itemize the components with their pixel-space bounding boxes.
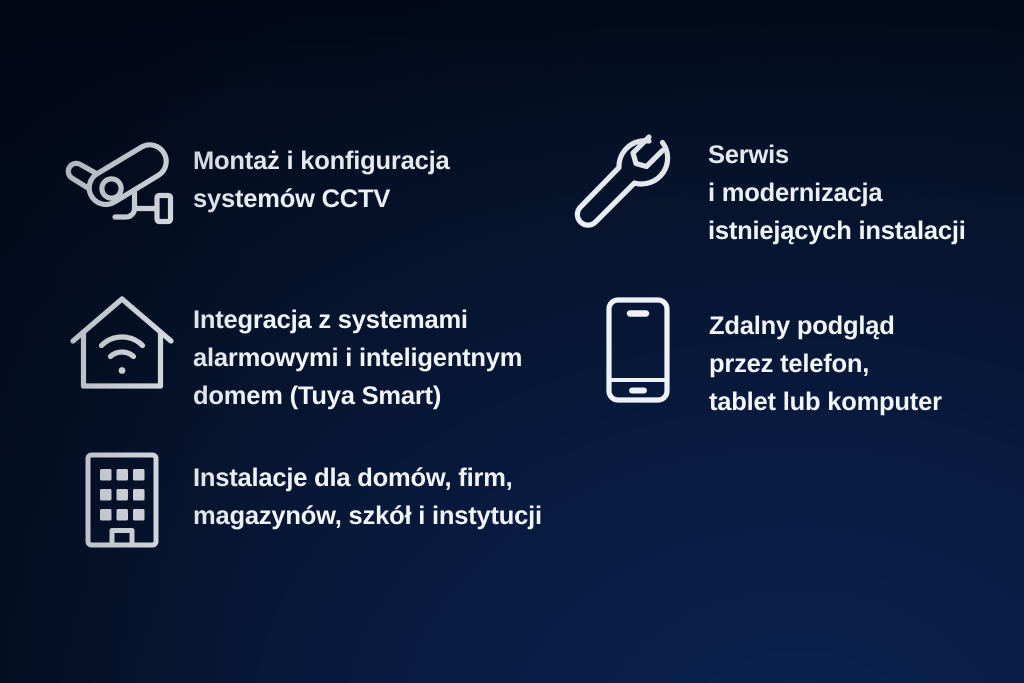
cctv-camera-icon [63, 132, 181, 228]
smart-home-wifi-icon [63, 292, 181, 396]
feature-label-integration: Integracja z systemami alarmowymi i inte… [193, 301, 522, 415]
feature-item-remote-view: Zdalny podgląd przez telefon, tablet lub… [592, 294, 942, 421]
smartphone-icon [592, 294, 684, 406]
feature-item-premises: Instalacje dla domów, firm, magazynów, s… [63, 450, 542, 550]
feature-label-cctv: Montaż i konfiguracja systemów CCTV [193, 142, 450, 218]
services-feature-slide: Montaż i konfiguracja systemów CCTV Serw… [0, 0, 1024, 683]
feature-item-cctv: Montaż i konfiguracja systemów CCTV [63, 132, 450, 228]
feature-label-premises: Instalacje dla domów, firm, magazynów, s… [193, 459, 542, 535]
feature-item-service: Serwis i modernizacja istniejących insta… [572, 126, 966, 250]
wrench-icon [572, 126, 684, 236]
feature-label-service: Serwis i modernizacja istniejących insta… [708, 136, 966, 250]
feature-item-integration: Integracja z systemami alarmowymi i inte… [63, 292, 522, 415]
office-building-icon [63, 450, 181, 550]
feature-label-remote-view: Zdalny podgląd przez telefon, tablet lub… [709, 307, 942, 421]
